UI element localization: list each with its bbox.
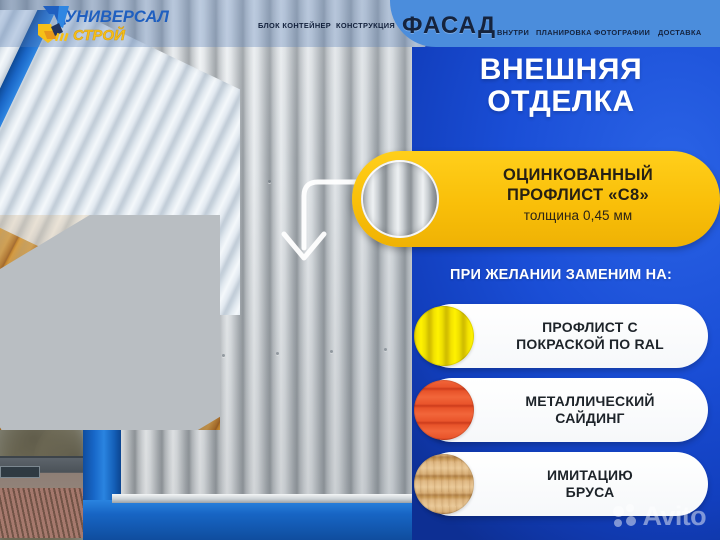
blue-base-beam	[83, 500, 430, 540]
nav-item-dostavka[interactable]: ДОСТАВКА	[658, 28, 702, 37]
avito-watermark-text: Avito	[643, 501, 707, 532]
swap-option-line1: ИМИТАЦИЮ	[547, 467, 633, 483]
metal-base-trim	[112, 494, 430, 503]
swap-option-line2: БРУСА	[566, 484, 615, 500]
facade-photo	[0, 0, 430, 540]
corrugated-sheet-swatch-icon	[361, 160, 439, 238]
brand-logo[interactable]: УНИВЕРСАЛ СТРОЙ	[34, 2, 169, 46]
avito-logo-icon	[613, 504, 639, 530]
page-title: ВНЕШНЯЯ ОТДЕЛКА	[416, 54, 706, 119]
swap-option-line2: ПОКРАСКОЙ ПО RAL	[516, 336, 664, 352]
material-badge: ОЦИНКОВАННЫЙ ПРОФЛИСТ «С8» толщина 0,45 …	[352, 151, 720, 247]
main-nav[interactable]: УНИВЕРСАЛ СТРОЙ БЛОК КОНТЕЙНЕР КОНСТРУКЦ…	[0, 0, 720, 47]
nav-item-fotografii[interactable]: ФОТОГРАФИИ	[594, 28, 650, 37]
swap-option-line2: САЙДИНГ	[555, 410, 624, 426]
material-badge-thickness: толщина 0,45 мм	[448, 208, 708, 223]
swap-option-ral[interactable]: ПРОФЛИСТ С ПОКРАСКОЙ ПО RAL	[420, 304, 708, 368]
page-title-line1: ВНЕШНЯЯ	[416, 54, 706, 86]
wood-imitation-swatch-icon	[414, 454, 474, 514]
nav-item-fasad-active[interactable]: ФАСАД	[402, 12, 496, 40]
page-title-line2: ОТДЕЛКА	[416, 86, 706, 118]
swap-section-label: ПРИ ЖЕЛАНИИ ЗАМЕНИМ НА:	[416, 267, 706, 283]
swap-option-label: МЕТАЛЛИЧЕСКИЙ САЙДИНГ	[482, 378, 698, 442]
logo-text-line1: УНИВЕРСАЛ	[65, 8, 169, 26]
swap-option-line1: ПРОФЛИСТ С	[542, 319, 638, 335]
swap-option-line1: МЕТАЛЛИЧЕСКИЙ	[525, 393, 654, 409]
orange-siding-swatch-icon	[414, 380, 474, 440]
container-window	[0, 466, 40, 478]
material-badge-line2: ПРОФЛИСТ «С8»	[448, 185, 708, 205]
nav-item-blok-konteiner[interactable]: БЛОК КОНТЕЙНЕР	[258, 21, 331, 30]
material-badge-text: ОЦИНКОВАННЫЙ ПРОФЛИСТ «С8» толщина 0,45 …	[448, 165, 708, 223]
neighbouring-container	[0, 456, 92, 538]
logo-text-line2: СТРОЙ	[73, 26, 126, 44]
material-badge-line1: ОЦИНКОВАННЫЙ	[448, 165, 708, 185]
promo-banner: УНИВЕРСАЛ СТРОЙ БЛОК КОНТЕЙНЕР КОНСТРУКЦ…	[0, 0, 720, 540]
nav-item-planirovka[interactable]: ПЛАНИРОВКА	[536, 28, 592, 37]
nav-item-vnutri[interactable]: ВНУТРИ	[497, 28, 529, 37]
swap-option-siding[interactable]: МЕТАЛЛИЧЕСКИЙ САЙДИНГ	[420, 378, 708, 442]
yellow-corrugated-swatch-icon	[414, 306, 474, 366]
nav-item-konstrukciya[interactable]: КОНСТРУКЦИЯ	[336, 21, 395, 30]
wood-soffit	[0, 215, 220, 430]
avito-watermark: Avito	[613, 501, 707, 532]
swap-option-label: ПРОФЛИСТ С ПОКРАСКОЙ ПО RAL	[482, 304, 698, 368]
